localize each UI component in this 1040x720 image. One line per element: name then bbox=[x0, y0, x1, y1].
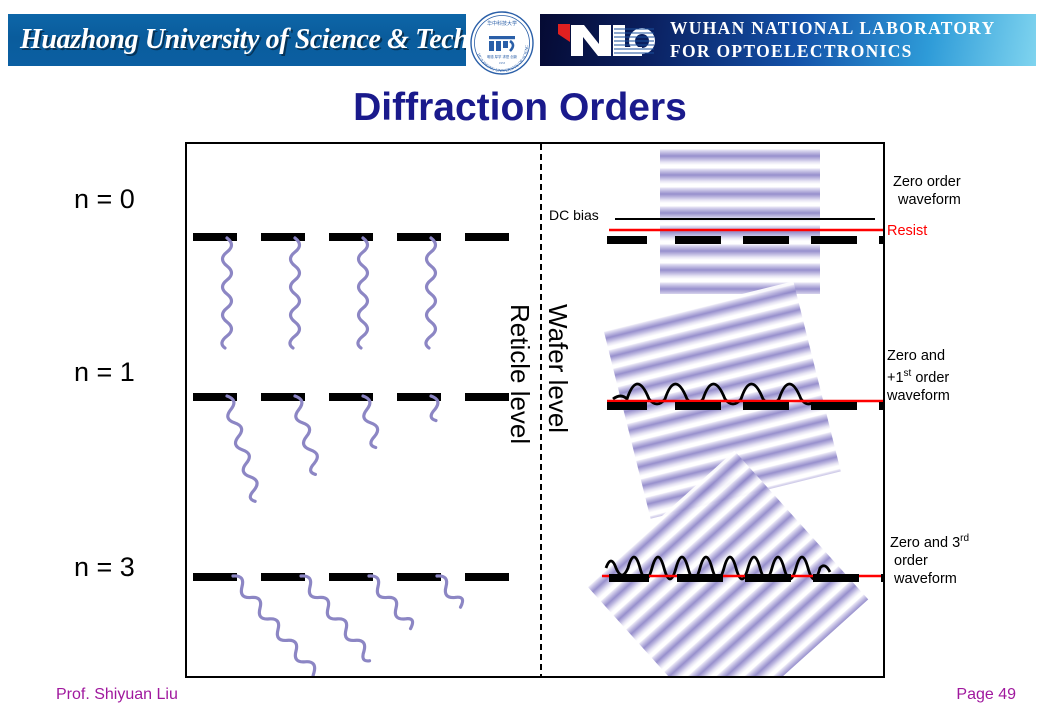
diffraction-arrows-n0 bbox=[187, 236, 537, 366]
annotation-first-order-line-1: Zero and bbox=[887, 347, 950, 365]
annotation-third-order-pre: Zero and 3 bbox=[890, 535, 960, 551]
hust-seal-icon: 华中科技大学 明德 厚学 求是 创新 1953 HUAZHONG UNIVERS… bbox=[466, 8, 538, 78]
grating-wafer-zero-order bbox=[607, 236, 869, 244]
annotation-third-order-sup: rd bbox=[960, 533, 969, 544]
wnlo-banner-text: WUHAN NATIONAL LABORATORY FOR OPTOELECTR… bbox=[670, 17, 996, 63]
footer-page-number: Page 49 bbox=[956, 686, 1016, 704]
svg-text:1953: 1953 bbox=[499, 61, 506, 65]
footer-author: Prof. Shiyuan Liu bbox=[56, 686, 178, 704]
diffraction-arrows-n1 bbox=[187, 394, 537, 524]
diffraction-arrows-n3 bbox=[187, 574, 537, 678]
diffraction-diagram-box: Reticle level Wafer level bbox=[185, 142, 885, 678]
resist-label: Resist bbox=[887, 223, 927, 239]
grating-wafer-third-order bbox=[609, 574, 871, 582]
annotation-first-order-post: order bbox=[911, 370, 949, 386]
annotation-third-order-line-2: order bbox=[890, 552, 969, 570]
hust-banner: Huazhong University of Science & Technol… bbox=[8, 14, 470, 66]
order-label-n0: n = 0 bbox=[74, 184, 135, 215]
slide-canvas: Huazhong University of Science & Technol… bbox=[0, 0, 1040, 720]
annotation-zero-order-line-2: waveform bbox=[893, 191, 961, 209]
order-label-n3: n = 3 bbox=[74, 552, 135, 583]
wnlo-line-1: WUHAN NATIONAL LABORATORY bbox=[670, 17, 996, 40]
annotation-third-order-line-1: Zero and 3rd bbox=[890, 530, 969, 552]
annotation-third-order: Zero and 3rd order waveform bbox=[890, 530, 969, 588]
wafer-level-label: Wafer level bbox=[542, 304, 573, 433]
waveform-zero-order bbox=[607, 204, 885, 252]
dc-bias-label: DC bias bbox=[549, 207, 599, 223]
svg-text:华中科技大学: 华中科技大学 bbox=[487, 20, 517, 27]
annotation-first-order-line-3: waveform bbox=[887, 387, 950, 405]
annotation-first-order-line-2: +1st order bbox=[887, 365, 950, 387]
annotation-first-order: Zero and +1st order waveform bbox=[887, 347, 950, 405]
annotation-zero-order: Zero order waveform bbox=[893, 173, 961, 209]
slide-title: Diffraction Orders bbox=[0, 86, 1040, 130]
hust-banner-text: Huazhong University of Science & Technol… bbox=[20, 18, 470, 62]
annotation-third-order-line-3: waveform bbox=[890, 570, 969, 588]
wnlo-line-2: FOR OPTOELECTRONICS bbox=[670, 40, 996, 63]
svg-text:明德 厚学 求是 创新: 明德 厚学 求是 创新 bbox=[487, 54, 518, 59]
wnlo-banner: WUHAN NATIONAL LABORATORY FOR OPTOELECTR… bbox=[540, 14, 1036, 66]
annotation-first-order-pre: +1 bbox=[887, 370, 904, 386]
annotation-zero-order-line-1: Zero order bbox=[893, 173, 961, 191]
order-label-n1: n = 1 bbox=[74, 357, 135, 388]
header-banner-strip: Huazhong University of Science & Technol… bbox=[0, 0, 1040, 80]
grating-wafer-first-order bbox=[607, 402, 869, 410]
nlo-logo-icon bbox=[554, 20, 664, 60]
